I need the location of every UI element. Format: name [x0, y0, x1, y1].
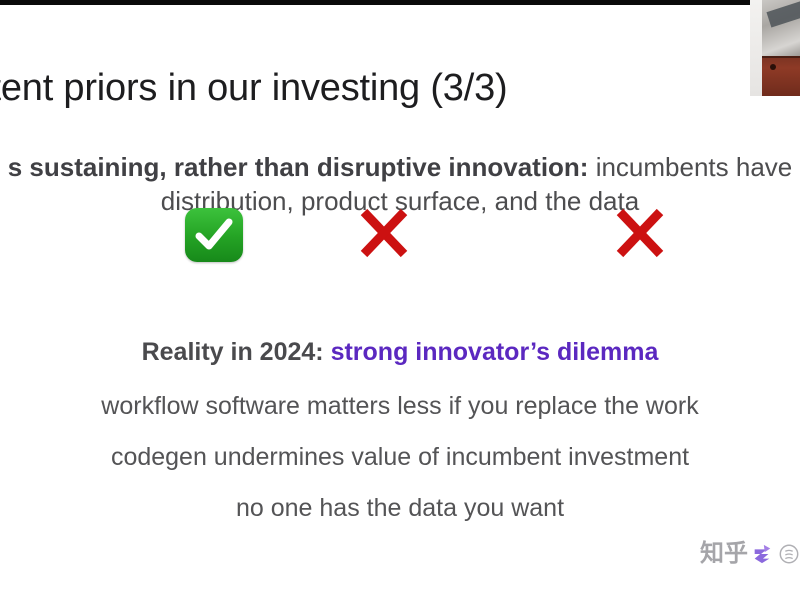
subtitle-rest: incumbents have: [588, 152, 792, 182]
body-line-1: workflow software matters less if you re…: [0, 392, 800, 421]
zhihu-circle-icon: [778, 543, 800, 565]
reality-heading: Reality in 2024: strong innovator’s dile…: [0, 338, 800, 367]
reality-prefix: Reality in 2024:: [142, 338, 331, 366]
subtitle-lead: s sustaining, rather than disruptive inn…: [8, 152, 589, 182]
watermark-text: 知乎: [700, 541, 748, 567]
green-check-emoji: [185, 208, 243, 262]
check-icon: [194, 217, 234, 253]
cross-icon: [614, 208, 666, 258]
red-x-mark-2: [614, 208, 666, 263]
presenter-webcam-thumbnail[interactable]: [750, 0, 800, 96]
presentation-slide: e latent priors in our investing (3/3) s…: [0, 5, 800, 600]
check-emoji-badge: [185, 208, 243, 262]
webcam-furniture-knob: [770, 64, 776, 70]
reality-accent-phrase: strong innovator’s dilemma: [331, 338, 659, 366]
body-line-3: no one has the data you want: [0, 494, 800, 523]
zhihu-logo-icon: [751, 542, 773, 566]
video-frame: e latent priors in our investing (3/3) s…: [0, 0, 800, 600]
red-x-mark-1: [358, 208, 410, 263]
webcam-furniture: [762, 56, 800, 96]
zhihu-watermark: 知乎: [700, 541, 800, 567]
cross-icon: [358, 208, 410, 258]
webcam-light-strip: [750, 0, 762, 96]
body-line-2: codegen undermines value of incumbent in…: [0, 443, 800, 472]
slide-title: e latent priors in our investing (3/3): [0, 67, 800, 110]
